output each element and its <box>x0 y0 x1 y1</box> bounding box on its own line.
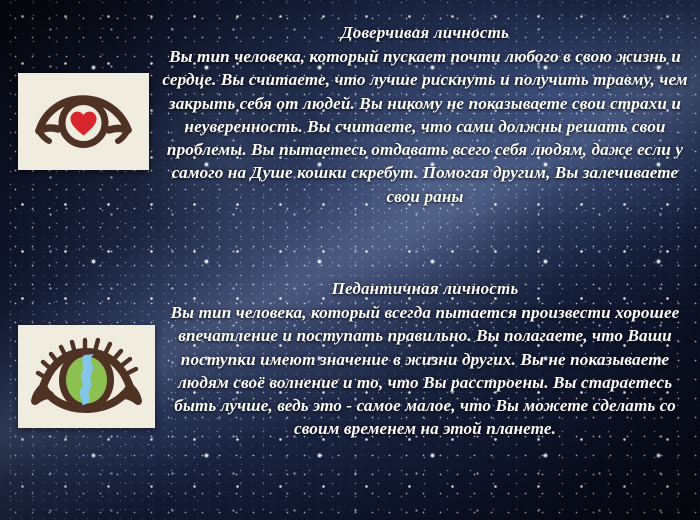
trusting-text-column: Доверчивая личность Вы тип человека, кот… <box>158 22 692 208</box>
infographic-canvas: Доверчивая личность Вы тип человека, кот… <box>0 0 700 520</box>
pedantic-body: Вы тип человека, который всегда пытается… <box>158 301 692 441</box>
pedantic-text-column: Педантичная личность Вы тип человека, ко… <box>158 278 692 441</box>
eye-with-heart-iris-icon <box>18 73 149 170</box>
trusting-heading: Доверчивая личность <box>158 22 692 44</box>
pedantic-heading: Педантичная личность <box>158 278 692 300</box>
trusting-body: Вы тип человека, который пускает почти л… <box>158 45 692 208</box>
eye-with-earth-iris-icon <box>18 325 155 428</box>
